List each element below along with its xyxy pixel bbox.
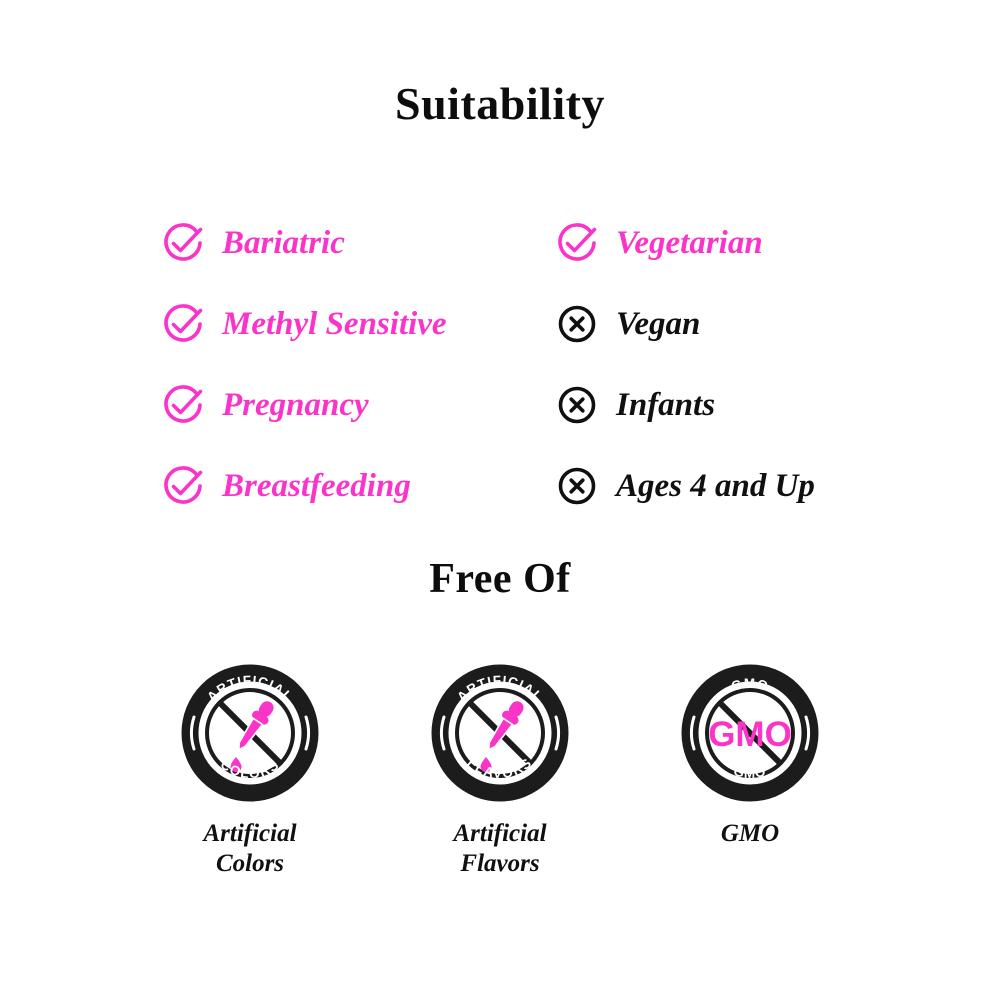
suitability-item-vegan: Vegan xyxy=(554,293,880,355)
free-of-caption-line: Flavors xyxy=(453,849,546,879)
free-of-item-gmo: GMO GMO GMO GMO xyxy=(650,663,850,879)
free-of-list: ARTIFICIAL COLORS Artificial Colors xyxy=(150,663,850,879)
no-artificial-flavors-badge-icon: ARTIFICIAL FLAVORS xyxy=(430,663,570,803)
free-of-item-artificial-colors: ARTIFICIAL COLORS Artificial Colors xyxy=(150,663,350,879)
free-of-item-artificial-flavors: ARTIFICIAL FLAVORS Artificial Flavors xyxy=(400,663,600,879)
suitability-item-label: Breastfeeding xyxy=(222,468,411,504)
suitability-item-label: Ages 4 and Up xyxy=(616,468,815,504)
free-of-caption-line: GMO xyxy=(721,819,779,849)
badge-center-text: GMO xyxy=(708,715,792,754)
free-of-caption: Artificial Flavors xyxy=(453,819,546,879)
suitability-item-infants: Infants xyxy=(554,374,880,436)
check-circle-icon xyxy=(160,382,206,428)
suitability-item-vegetarian: Vegetarian xyxy=(554,212,880,274)
free-of-caption-line: Artificial xyxy=(203,819,296,849)
suitability-item-label: Pregnancy xyxy=(222,387,369,423)
suitability-item-label: Vegan xyxy=(616,306,700,342)
free-of-caption: GMO xyxy=(721,819,779,849)
suitability-item-pregnancy: Pregnancy xyxy=(160,374,554,436)
suitability-list: Bariatric Vegetarian Methyl Sensitive xyxy=(160,212,880,536)
free-of-caption-line: Colors xyxy=(203,849,296,879)
suitability-item-breastfeeding: Breastfeeding xyxy=(160,455,554,517)
no-artificial-colors-badge-icon: ARTIFICIAL COLORS xyxy=(180,663,320,803)
suitability-item-bariatric: Bariatric xyxy=(160,212,554,274)
free-of-caption-line: Artificial xyxy=(453,819,546,849)
free-of-caption: Artificial Colors xyxy=(203,819,296,879)
badge-bottom-text: COLORS xyxy=(218,757,283,782)
suitability-item-label: Methyl Sensitive xyxy=(222,306,447,342)
svg-text:FLAVORS: FLAVORS xyxy=(465,755,535,782)
suitability-item-label: Bariatric xyxy=(222,225,345,261)
suitability-item-label: Infants xyxy=(616,387,715,423)
svg-text:GMO: GMO xyxy=(732,763,768,781)
free-of-title: Free Of xyxy=(0,555,1000,603)
suitability-item-methyl-sensitive: Methyl Sensitive xyxy=(160,293,554,355)
badge-bottom-text: GMO xyxy=(732,763,768,781)
suitability-item-label: Vegetarian xyxy=(616,225,763,261)
check-circle-icon xyxy=(160,220,206,266)
suitability-item-ages-4-and-up: Ages 4 and Up xyxy=(554,455,880,517)
no-gmo-badge-icon: GMO GMO GMO xyxy=(680,663,820,803)
check-circle-icon xyxy=(160,463,206,509)
check-circle-icon xyxy=(554,220,600,266)
x-circle-icon xyxy=(554,301,600,347)
badge-bottom-text: FLAVORS xyxy=(465,755,535,782)
page-title: Suitability xyxy=(0,78,1000,130)
svg-text:COLORS: COLORS xyxy=(218,757,283,782)
x-circle-icon xyxy=(554,463,600,509)
check-circle-icon xyxy=(160,301,206,347)
x-circle-icon xyxy=(554,382,600,428)
